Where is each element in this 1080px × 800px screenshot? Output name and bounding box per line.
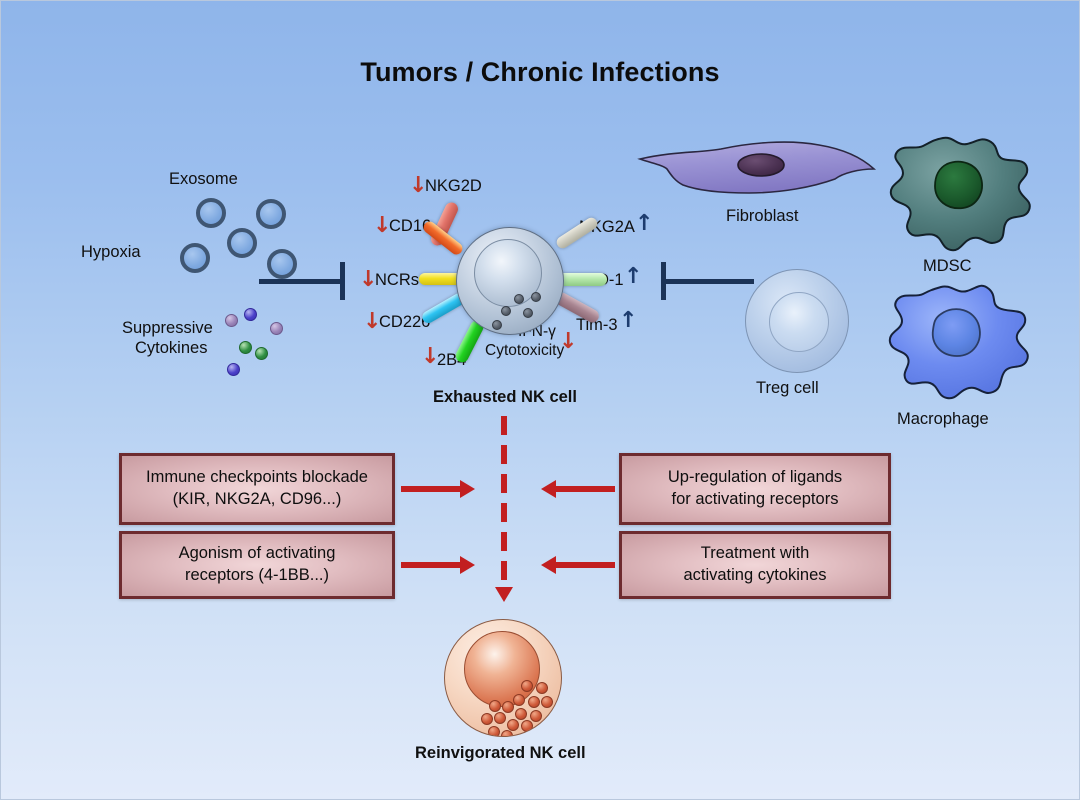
treatment-line1: Treatment with: [683, 543, 826, 565]
treg-label: Treg cell: [756, 378, 819, 398]
exosome-vesicle: [227, 228, 257, 258]
exhausted-nk-caption: Exhausted NK cell: [433, 387, 577, 407]
cytokine-dot: [227, 363, 240, 376]
dashed-segment: [501, 561, 507, 580]
cytokine-dot: [255, 347, 268, 360]
receptor-pd1: [557, 273, 607, 286]
exosome-vesicle: [196, 198, 226, 228]
label-cytotoxicity: Cytotoxicity: [485, 342, 564, 361]
granule: [513, 694, 525, 706]
treatment-box-activating-cytokines[interactable]: Treatment with activating cytokines: [619, 531, 891, 599]
cytokine-dot: [270, 322, 283, 335]
granule: [488, 726, 500, 737]
exosome-vesicle: [180, 243, 210, 273]
granule: [521, 720, 533, 732]
fibroblast-label: Fibroblast: [726, 206, 798, 226]
mdsc-label: MDSC: [923, 256, 972, 276]
treatment-line2: (KIR, NKG2A, CD96...): [146, 489, 368, 511]
granule: [492, 320, 502, 330]
granule: [523, 308, 533, 318]
arrow-stem: [555, 486, 615, 492]
exosome-label: Exosome: [169, 169, 238, 189]
granule: [502, 701, 514, 713]
dashed-segment: [501, 474, 507, 493]
treatment-line2: for activating receptors: [668, 489, 842, 511]
treatment-line1: Agonism of activating: [179, 543, 336, 565]
granule: [514, 294, 524, 304]
cytokine-dot: [244, 308, 257, 321]
arrow-head-left: [541, 480, 556, 498]
granule: [489, 700, 501, 712]
macrophage-label: Macrophage: [897, 409, 989, 429]
inhibition-bar-left: [259, 279, 343, 284]
label-nkg2d: NKG2D: [425, 176, 482, 196]
label-ncrs: NCRs: [375, 270, 419, 290]
granule: [531, 292, 541, 302]
fibroblast-cell: [637, 133, 877, 209]
cytokine-dot: [225, 314, 238, 327]
cytokine-dot: [239, 341, 252, 354]
treatment-box-checkpoint-blockade[interactable]: Immune checkpoints blockade (KIR, NKG2A,…: [119, 453, 395, 525]
reinvigorated-nk-cell: [444, 619, 562, 737]
page-title: Tumors / Chronic Infections: [1, 57, 1079, 88]
arrow-stem: [401, 562, 461, 568]
granule: [541, 696, 553, 708]
dashed-segment: [501, 503, 507, 522]
granule: [515, 708, 527, 720]
treg-nucleus: [769, 292, 829, 352]
exosome-vesicle: [267, 249, 297, 279]
reinvigorated-nk-nucleus: [464, 631, 540, 707]
dashed-segment: [501, 416, 507, 435]
granule: [481, 713, 493, 725]
dashed-segment: [501, 532, 507, 551]
granule: [501, 730, 513, 737]
reinvigorated-nk-caption: Reinvigorated NK cell: [415, 743, 586, 763]
exhausted-nk-cell: [456, 227, 564, 335]
granule: [530, 710, 542, 722]
mdsc-cell: [881, 134, 1041, 259]
treatment-line2: receptors (4-1BB...): [179, 565, 336, 587]
inhibition-bar-left-cap: [340, 262, 345, 300]
arrow-up-pd1: ↑: [624, 266, 642, 288]
arrow-stem: [555, 562, 615, 568]
granule: [521, 680, 533, 692]
figure-canvas: Tumors / Chronic Infections Exosome Hypo…: [0, 0, 1080, 800]
granule: [494, 712, 506, 724]
treatment-line1: Immune checkpoints blockade: [146, 467, 368, 489]
treg-cell: [745, 269, 849, 373]
macrophage-cell: [883, 282, 1039, 404]
arrow-head-right: [460, 556, 475, 574]
arrow-head-left: [541, 556, 556, 574]
granule: [507, 719, 519, 731]
exosome-vesicle: [256, 199, 286, 229]
dashed-segment: [501, 445, 507, 464]
inhibition-bar-right: [664, 279, 754, 284]
suppressive-cytokines-label-line1: Suppressive: [122, 318, 213, 338]
treatment-box-ligand-upregulation[interactable]: Up-regulation of ligands for activating …: [619, 453, 891, 525]
treatment-box-agonism[interactable]: Agonism of activating receptors (4-1BB..…: [119, 531, 395, 599]
arrow-head-right: [460, 480, 475, 498]
arrow-up-nkg2a: ↑: [635, 213, 653, 235]
arrow-down-function: ↓: [559, 331, 577, 353]
granule: [528, 696, 540, 708]
granule: [536, 682, 548, 694]
dashed-arrow-head: [495, 587, 513, 602]
treatment-line1: Up-regulation of ligands: [668, 467, 842, 489]
treatment-line2: activating cytokines: [683, 565, 826, 587]
arrow-up-tim3: ↑: [619, 310, 637, 332]
suppressive-cytokines-label-line2: Cytokines: [135, 338, 207, 358]
hypoxia-label: Hypoxia: [81, 242, 141, 262]
arrow-stem: [401, 486, 461, 492]
granule: [501, 306, 511, 316]
